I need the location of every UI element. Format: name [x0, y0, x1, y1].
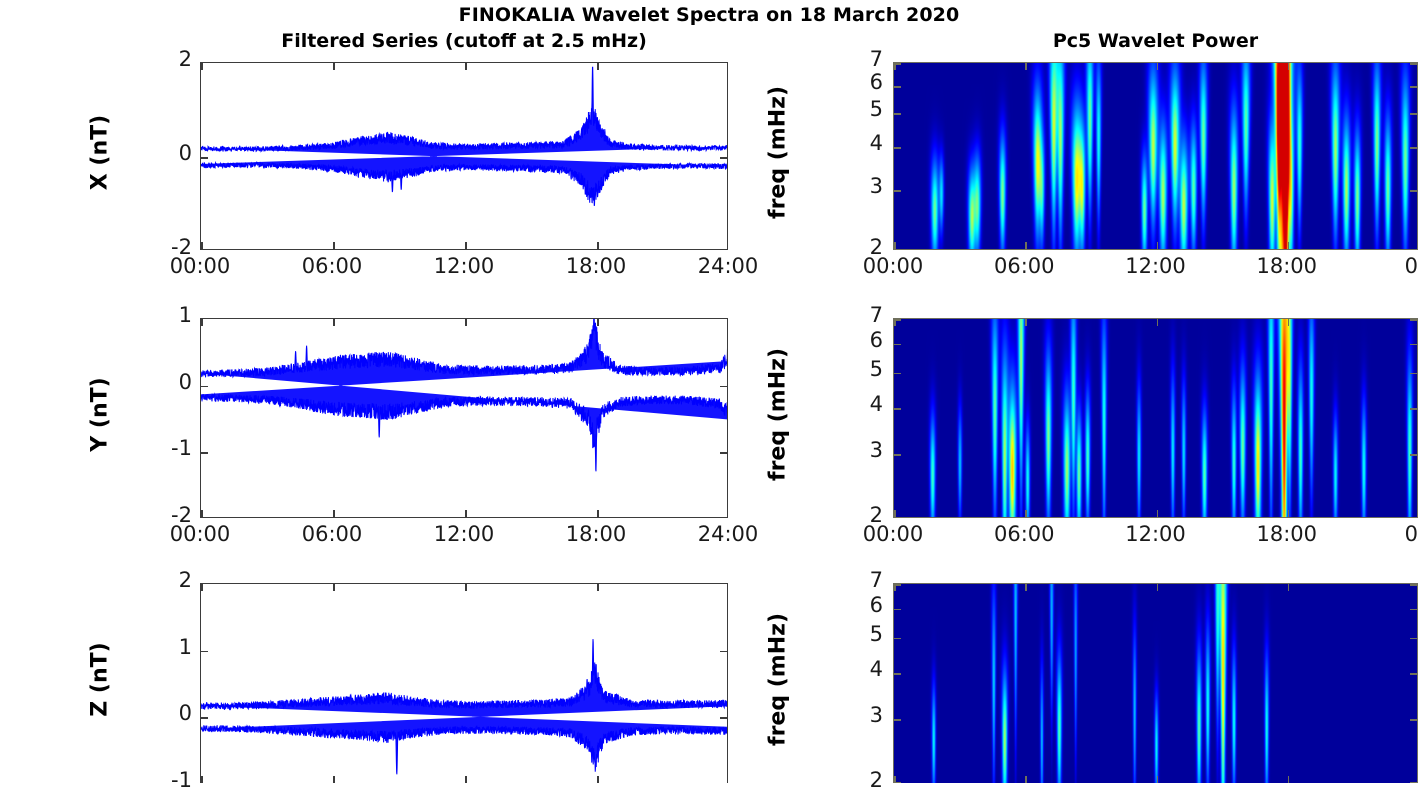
y-tickmark: [201, 386, 208, 388]
x-tickmark: [333, 776, 335, 783]
y-tickmark: [894, 673, 901, 675]
x-tickmark: [727, 242, 728, 249]
x-tickmark: [1157, 776, 1159, 783]
y-axis-label-y: Y (nT): [88, 315, 113, 515]
y-tick-label: 2: [136, 568, 192, 592]
freq-tick-label: 3: [833, 174, 883, 198]
freq-tick-label: 5: [833, 622, 883, 646]
x-tick-label: 24:00: [668, 522, 788, 546]
freq-axis-label-z: freq (mHz): [766, 580, 791, 780]
x-tickmark: [1288, 242, 1290, 249]
y-tickmark: [1410, 454, 1417, 456]
freq-tick-label: 6: [833, 593, 883, 617]
freq-tick-label: 7: [833, 47, 883, 71]
freq-tick-label: 5: [833, 357, 883, 381]
time-tick-label: 12:00: [1096, 254, 1216, 278]
y-axis-label-x: X (nT): [88, 53, 113, 253]
x-tickmark: [727, 776, 728, 783]
y-tickmark: [720, 157, 727, 159]
x-tick-label: 18:00: [536, 254, 656, 278]
freq-tick-label: 4: [833, 392, 883, 416]
y-tickmark: [1410, 147, 1417, 149]
freq-tick-label: 7: [833, 303, 883, 327]
y-tickmark: [894, 373, 901, 375]
x-tick-label: 12:00: [404, 522, 524, 546]
y-tickmark: [720, 651, 727, 653]
y-tick-label: 0: [136, 701, 192, 725]
time-tick-label: 06:00: [964, 254, 1084, 278]
timeseries-plot-z: [200, 583, 728, 783]
y-tickmark: [894, 113, 901, 115]
y-tickmark: [894, 319, 901, 321]
x-tickmark: [1288, 319, 1290, 326]
x-tickmark: [201, 510, 203, 517]
x-tickmark: [333, 584, 335, 591]
y-tickmark: [201, 452, 208, 454]
x-tickmark: [465, 776, 467, 783]
y-tickmark: [201, 157, 208, 159]
x-tickmark: [1288, 776, 1290, 783]
x-tickmark: [1025, 242, 1027, 249]
freq-tick-label: 4: [833, 657, 883, 681]
x-tickmark: [597, 776, 599, 783]
freq-tick-label: 3: [833, 438, 883, 462]
x-tickmark: [1157, 510, 1159, 517]
x-tickmark: [465, 319, 467, 326]
time-tick-label: 12:00: [1096, 522, 1216, 546]
x-tickmark: [597, 242, 599, 249]
y-tickmark: [1410, 190, 1417, 192]
y-tickmark: [894, 719, 901, 721]
x-tickmark: [465, 242, 467, 249]
freq-tick-label: 5: [833, 97, 883, 121]
y-tickmark: [1410, 408, 1417, 410]
y-tickmark: [894, 190, 901, 192]
figure-suptitle: FINOKALIA Wavelet Spectra on 18 March 20…: [0, 4, 1418, 26]
y-tickmark: [201, 717, 208, 719]
x-tickmark: [1288, 63, 1290, 70]
y-tickmark: [894, 344, 901, 346]
y-tickmark: [894, 517, 901, 518]
y-tickmark: [1410, 517, 1417, 518]
timeseries-plot-y: [200, 318, 728, 518]
freq-tick-label: 6: [833, 328, 883, 352]
timeseries-trace: [201, 319, 728, 518]
y-tickmark: [1410, 319, 1417, 321]
y-tickmark: [894, 454, 901, 456]
y-tickmark: [894, 782, 901, 783]
spectrogram-y: [893, 318, 1418, 518]
time-tick-label: 00: [1358, 254, 1418, 278]
time-tick-label: 06:00: [964, 522, 1084, 546]
y-tick-label: 0: [136, 370, 192, 394]
y-tickmark: [1410, 249, 1417, 250]
y-tickmark: [894, 147, 901, 149]
x-tickmark: [597, 510, 599, 517]
x-tickmark: [1157, 242, 1159, 249]
freq-tick-label: 3: [833, 703, 883, 727]
y-tickmark: [720, 452, 727, 454]
x-tickmark: [201, 584, 203, 591]
y-tickmark: [894, 638, 901, 640]
x-tick-label: 18:00: [536, 522, 656, 546]
time-tick-label: 00: [1358, 522, 1418, 546]
x-tick-label: 06:00: [272, 522, 392, 546]
y-tick-label: 0: [136, 141, 192, 165]
y-tickmark: [1410, 638, 1417, 640]
y-tickmark: [720, 717, 727, 719]
freq-tick-label: 7: [833, 568, 883, 592]
x-tickmark: [1157, 63, 1159, 70]
x-tickmark: [727, 584, 728, 591]
y-tickmark: [894, 249, 901, 250]
spectrogram-image: [894, 319, 1418, 518]
x-tick-label: 24:00: [668, 254, 788, 278]
y-tickmark: [894, 86, 901, 88]
x-tickmark: [597, 63, 599, 70]
y-tickmark: [1410, 719, 1417, 721]
time-tick-label: 18:00: [1227, 522, 1347, 546]
x-tickmark: [727, 319, 728, 326]
x-tickmark: [1025, 319, 1027, 326]
y-tickmark: [894, 609, 901, 611]
time-tick-label: 00:00: [833, 522, 953, 546]
right-column-title: Pc5 Wavelet Power: [893, 30, 1418, 52]
x-tickmark: [201, 242, 203, 249]
y-tickmark: [1410, 609, 1417, 611]
spectrogram-image: [894, 63, 1418, 250]
y-tickmark: [1410, 782, 1417, 783]
x-tickmark: [465, 510, 467, 517]
y-tickmark: [720, 386, 727, 388]
y-tick-label: 1: [136, 303, 192, 327]
timeseries-trace: [201, 63, 728, 250]
x-tick-label: 06:00: [272, 254, 392, 278]
y-tickmark: [894, 584, 901, 586]
y-tickmark: [1410, 344, 1417, 346]
y-tickmark: [894, 408, 901, 410]
x-tickmark: [727, 510, 728, 517]
y-tickmark: [1410, 86, 1417, 88]
x-tickmark: [1288, 584, 1290, 591]
x-tickmark: [597, 319, 599, 326]
x-tick-label: 00:00: [140, 254, 260, 278]
x-tick-label: 00:00: [140, 522, 260, 546]
spectrogram-x: [893, 62, 1418, 250]
x-tickmark: [1157, 319, 1159, 326]
x-tickmark: [333, 242, 335, 249]
x-tickmark: [1025, 510, 1027, 517]
y-tickmark: [1410, 373, 1417, 375]
x-tickmark: [894, 510, 896, 517]
y-tickmark: [201, 651, 208, 653]
x-tickmark: [727, 63, 728, 70]
y-tickmark: [1410, 673, 1417, 675]
y-tickmark: [1410, 63, 1417, 65]
x-tickmark: [201, 63, 203, 70]
x-tickmark: [333, 63, 335, 70]
x-tickmark: [894, 242, 896, 249]
x-tickmark: [1025, 776, 1027, 783]
freq-axis-label-x: freq (mHz): [766, 53, 791, 253]
y-axis-label-z: Z (nT): [88, 580, 113, 780]
spectrogram-image: [894, 584, 1418, 783]
x-tickmark: [333, 319, 335, 326]
x-tickmark: [1288, 510, 1290, 517]
x-tickmark: [1025, 584, 1027, 591]
time-tick-label: 18:00: [1227, 254, 1347, 278]
y-tickmark: [894, 63, 901, 65]
timeseries-trace: [201, 584, 728, 783]
x-tickmark: [1025, 63, 1027, 70]
left-column-title: Filtered Series (cutoff at 2.5 mHz): [200, 30, 728, 52]
y-tick-label: 2: [136, 47, 192, 71]
x-tick-label: 12:00: [404, 254, 524, 278]
timeseries-plot-x: [200, 62, 728, 250]
y-tick-label: 1: [136, 635, 192, 659]
figure-canvas: FINOKALIA Wavelet Spectra on 18 March 20…: [0, 0, 1418, 788]
y-tickmark: [1410, 113, 1417, 115]
time-tick-label: 00:00: [833, 254, 953, 278]
x-tickmark: [465, 63, 467, 70]
x-tickmark: [333, 510, 335, 517]
x-tickmark: [201, 776, 203, 783]
freq-tick-label: 6: [833, 70, 883, 94]
x-tickmark: [465, 584, 467, 591]
spectrogram-z: [893, 583, 1418, 783]
freq-tick-label: 2: [833, 768, 883, 792]
x-tickmark: [597, 584, 599, 591]
x-tickmark: [1157, 584, 1159, 591]
x-tickmark: [201, 319, 203, 326]
y-tickmark: [1410, 584, 1417, 586]
freq-tick-label: 4: [833, 131, 883, 155]
freq-axis-label-y: freq (mHz): [766, 315, 791, 515]
y-tick-label: -1: [136, 436, 192, 460]
y-tick-label: -1: [136, 768, 192, 792]
